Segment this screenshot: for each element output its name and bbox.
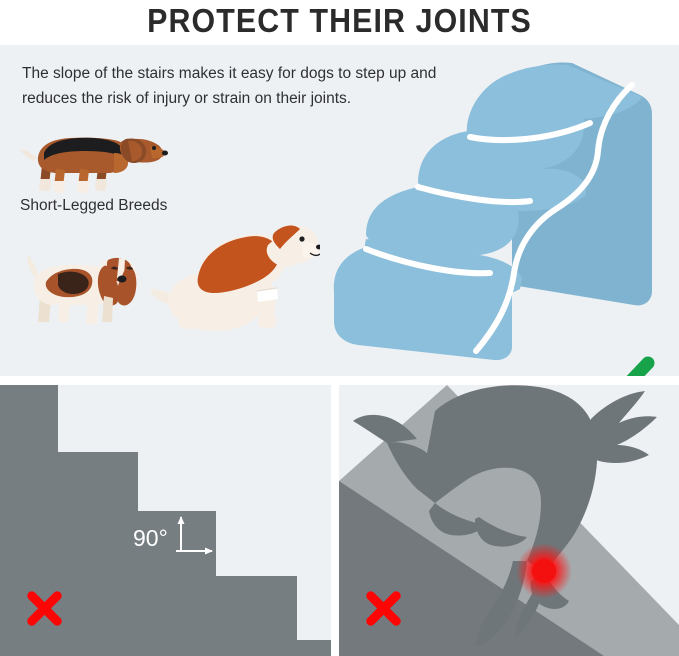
breed-item-seniors: Seniors <box>16 240 146 332</box>
steep-stairs-panel: 90° <box>0 385 331 656</box>
jumping-dog-panel <box>339 385 679 656</box>
breed-item-injuries: Injuries <box>150 213 320 335</box>
blue-three-step-pet-stairs-icon <box>322 45 672 376</box>
header: PROTECT THEIR JOINTS <box>0 0 679 45</box>
breed-item-short-legged: Short-Legged Breeds <box>18 113 168 193</box>
injured-sitting-dog-icon <box>150 213 320 335</box>
approval-check <box>586 355 656 376</box>
senior-basset-hound-icon <box>16 240 146 332</box>
red-x-icon <box>361 587 406 632</box>
benefits-panel: The slope of the stairs makes it easy fo… <box>0 45 679 376</box>
dachshund-dog-icon <box>18 113 168 193</box>
infographic-page: PROTECT THEIR JOINTS The slope of the st… <box>0 0 679 656</box>
breed-label-short-legged: Short-Legged Breeds <box>20 197 167 215</box>
green-check-icon <box>586 355 656 376</box>
page-title: PROTECT THEIR JOINTS <box>27 0 652 43</box>
product-illustration <box>322 45 672 376</box>
red-x-icon <box>22 587 67 632</box>
angle-label: 90° <box>133 525 168 552</box>
